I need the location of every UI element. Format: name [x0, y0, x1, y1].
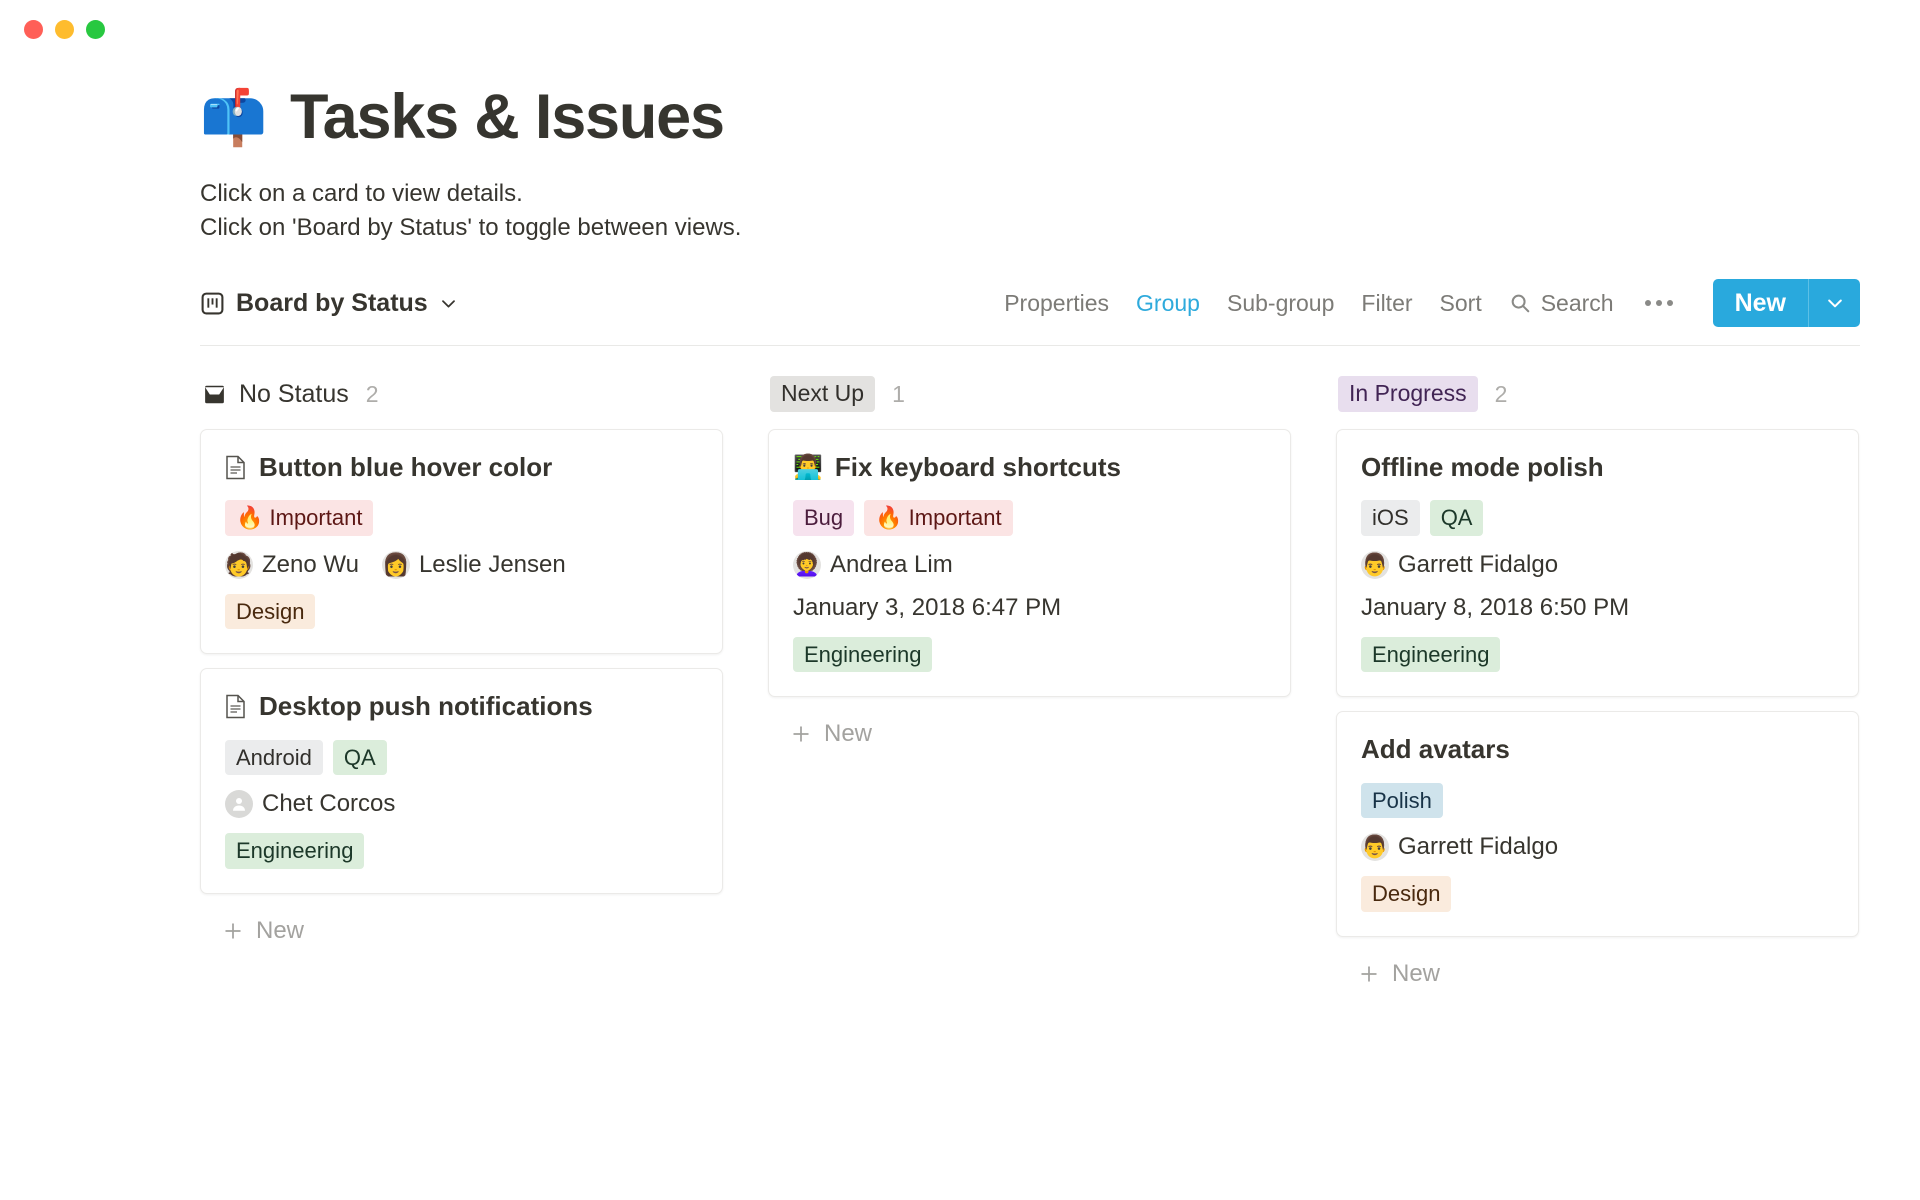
toolbar-filter-button[interactable]: Filter [1361, 290, 1412, 317]
add-card-button[interactable]: New [1336, 951, 1859, 988]
board-card-tags: iOSQA [1361, 500, 1834, 536]
more-dot-1 [1645, 300, 1651, 306]
assignee-name: Leslie Jensen [419, 551, 566, 579]
board-column-title: In Progress [1338, 376, 1478, 412]
tag-badge: Bug [793, 500, 854, 536]
page-title-text: Tasks & Issues [290, 86, 724, 149]
team-badge: Engineering [225, 833, 364, 869]
window-titlebar [0, 0, 1920, 58]
board-card-team: Engineering [1361, 637, 1834, 673]
document-icon [225, 455, 247, 480]
tag-badge: 🔥 Important [864, 500, 1012, 536]
add-card-label: New [824, 720, 872, 748]
toolbar-actions: Properties Group Sub-group Filter Sort S… [1004, 279, 1860, 327]
board-card-title: Desktop push notifications [225, 691, 698, 722]
tag-badge: Android [225, 740, 323, 776]
board-column: In Progress2Offline mode polishiOSQA👨Gar… [1336, 376, 1859, 987]
new-button-group: New [1713, 279, 1860, 327]
zoom-window-button[interactable] [86, 20, 105, 39]
board-card-assignees: 🧑Zeno Wu👩Leslie Jensen [225, 551, 698, 579]
add-card-button[interactable]: New [200, 908, 723, 945]
assignee: 🧑Zeno Wu [225, 551, 359, 579]
team-badge: Engineering [793, 637, 932, 673]
board-column-title: No Status [239, 380, 349, 409]
board-card[interactable]: Desktop push notificationsAndroidQAChet … [200, 668, 723, 893]
board-card-title: 👨‍💻Fix keyboard shortcuts [793, 452, 1266, 483]
assignee-name: Chet Corcos [262, 790, 395, 818]
team-badge: Design [1361, 876, 1451, 912]
plus-icon [790, 723, 812, 745]
board-card-title: Button blue hover color [225, 452, 698, 483]
board-view-icon [200, 291, 225, 316]
avatar: 👨 [1361, 551, 1389, 579]
board-card-assignees: 👩‍🦱Andrea Lim [793, 551, 1266, 579]
board-card-team: Design [225, 594, 698, 630]
page-header: 📫 Tasks & Issues Click on a card to view… [0, 58, 1920, 245]
tag-badge: Polish [1361, 783, 1443, 819]
board-card-title-text: Desktop push notifications [259, 691, 593, 722]
board-column-count: 2 [366, 381, 379, 408]
board-card-team: Design [1361, 876, 1834, 912]
board-card-title-text: Add avatars [1361, 734, 1510, 765]
close-window-button[interactable] [24, 20, 43, 39]
chevron-down-icon [439, 294, 458, 313]
tag-badge: 🔥 Important [225, 500, 373, 536]
add-card-label: New [1392, 960, 1440, 988]
view-switcher-label: Board by Status [236, 289, 428, 318]
team-badge: Engineering [1361, 637, 1500, 673]
new-button[interactable]: New [1713, 279, 1808, 327]
assignee: 👩‍🦱Andrea Lim [793, 551, 953, 579]
view-switcher-board-by-status[interactable]: Board by Status [200, 289, 458, 318]
new-button-dropdown[interactable] [1808, 279, 1860, 327]
board-card[interactable]: 👨‍💻Fix keyboard shortcutsBug🔥 Important👩… [768, 429, 1291, 697]
document-icon [225, 694, 247, 719]
avatar: 👩 [382, 551, 410, 579]
assignee: Chet Corcos [225, 790, 395, 818]
assignee: 👩Leslie Jensen [382, 551, 566, 579]
page-description-line-2: Click on 'Board by Status' to toggle bet… [200, 211, 1860, 245]
assignee-name: Garrett Fidalgo [1398, 551, 1558, 579]
board-card[interactable]: Add avatarsPolish👨Garrett FidalgoDesign [1336, 711, 1859, 936]
tag-badge: iOS [1361, 500, 1420, 536]
tag-badge: QA [333, 740, 387, 776]
board-column-header[interactable]: In Progress2 [1336, 376, 1859, 412]
board-card-tags: 🔥 Important [225, 500, 698, 536]
assignee: 👨Garrett Fidalgo [1361, 551, 1558, 579]
board-card-team: Engineering [225, 833, 698, 869]
avatar: 👨 [1361, 833, 1389, 861]
assignee: 👨Garrett Fidalgo [1361, 833, 1558, 861]
board-card-tags: Bug🔥 Important [793, 500, 1266, 536]
board-column-header[interactable]: No Status2 [200, 376, 723, 412]
avatar [225, 790, 253, 818]
tag-badge: QA [1430, 500, 1484, 536]
team-badge: Design [225, 594, 315, 630]
assignee-name: Andrea Lim [830, 551, 953, 579]
board-card-assignees: 👨Garrett Fidalgo [1361, 551, 1834, 579]
board-card-title: Offline mode polish [1361, 452, 1834, 483]
toolbar-properties-button[interactable]: Properties [1004, 290, 1109, 317]
mailbox-icon: 📫 [200, 91, 266, 145]
board-card-assignees: 👨Garrett Fidalgo [1361, 833, 1834, 861]
toolbar-search-label: Search [1541, 290, 1614, 317]
view-toolbar: Board by Status Properties Group Sub-gro… [200, 279, 1860, 346]
assignee-name: Garrett Fidalgo [1398, 833, 1558, 861]
board-card-title: Add avatars [1361, 734, 1834, 765]
board-column: Next Up1👨‍💻Fix keyboard shortcutsBug🔥 Im… [768, 376, 1291, 748]
board-card-date: January 3, 2018 6:47 PM [793, 594, 1266, 622]
toolbar-search-button[interactable]: Search [1509, 290, 1614, 317]
technologist-icon: 👨‍💻 [793, 456, 823, 480]
board-card-date: January 8, 2018 6:50 PM [1361, 594, 1834, 622]
board-card-tags: AndroidQA [225, 740, 698, 776]
board-column-title: Next Up [770, 376, 875, 412]
toolbar-group-button[interactable]: Group [1136, 290, 1200, 317]
more-options-icon[interactable] [1641, 300, 1677, 306]
plus-icon [222, 920, 244, 942]
avatar: 👩‍🦱 [793, 551, 821, 579]
page-title: 📫 Tasks & Issues [200, 86, 1860, 149]
board-card-title-text: Fix keyboard shortcuts [835, 452, 1121, 483]
tray-icon [202, 382, 227, 407]
board-card-team: Engineering [793, 637, 1266, 673]
more-dot-3 [1667, 300, 1673, 306]
minimize-window-button[interactable] [55, 20, 74, 39]
assignee-name: Zeno Wu [262, 551, 359, 579]
board-card[interactable]: Button blue hover color🔥 Important🧑Zeno … [200, 429, 723, 654]
more-dot-2 [1656, 300, 1662, 306]
avatar: 🧑 [225, 551, 253, 579]
search-icon [1509, 292, 1531, 314]
board-card-assignees: Chet Corcos [225, 790, 698, 818]
board-column: No Status2Button blue hover color🔥 Impor… [200, 376, 723, 944]
board-column-count: 1 [892, 381, 905, 408]
add-card-button[interactable]: New [768, 711, 1291, 748]
plus-icon [1358, 963, 1380, 985]
page-content: 📫 Tasks & Issues Click on a card to view… [0, 58, 1920, 988]
board-column-count: 2 [1495, 381, 1508, 408]
toolbar-sub-group-button[interactable]: Sub-group [1227, 290, 1334, 317]
kanban-board: No Status2Button blue hover color🔥 Impor… [200, 376, 1920, 987]
board-card-title-text: Offline mode polish [1361, 452, 1604, 483]
board-card-title-text: Button blue hover color [259, 452, 552, 483]
toolbar-sort-button[interactable]: Sort [1440, 290, 1482, 317]
board-card[interactable]: Offline mode polishiOSQA👨Garrett Fidalgo… [1336, 429, 1859, 697]
page-description-line-1: Click on a card to view details. [200, 177, 1860, 211]
board-card-tags: Polish [1361, 783, 1834, 819]
add-card-label: New [256, 917, 304, 945]
board-column-header[interactable]: Next Up1 [768, 376, 1291, 412]
page-description: Click on a card to view details. Click o… [200, 177, 1860, 245]
